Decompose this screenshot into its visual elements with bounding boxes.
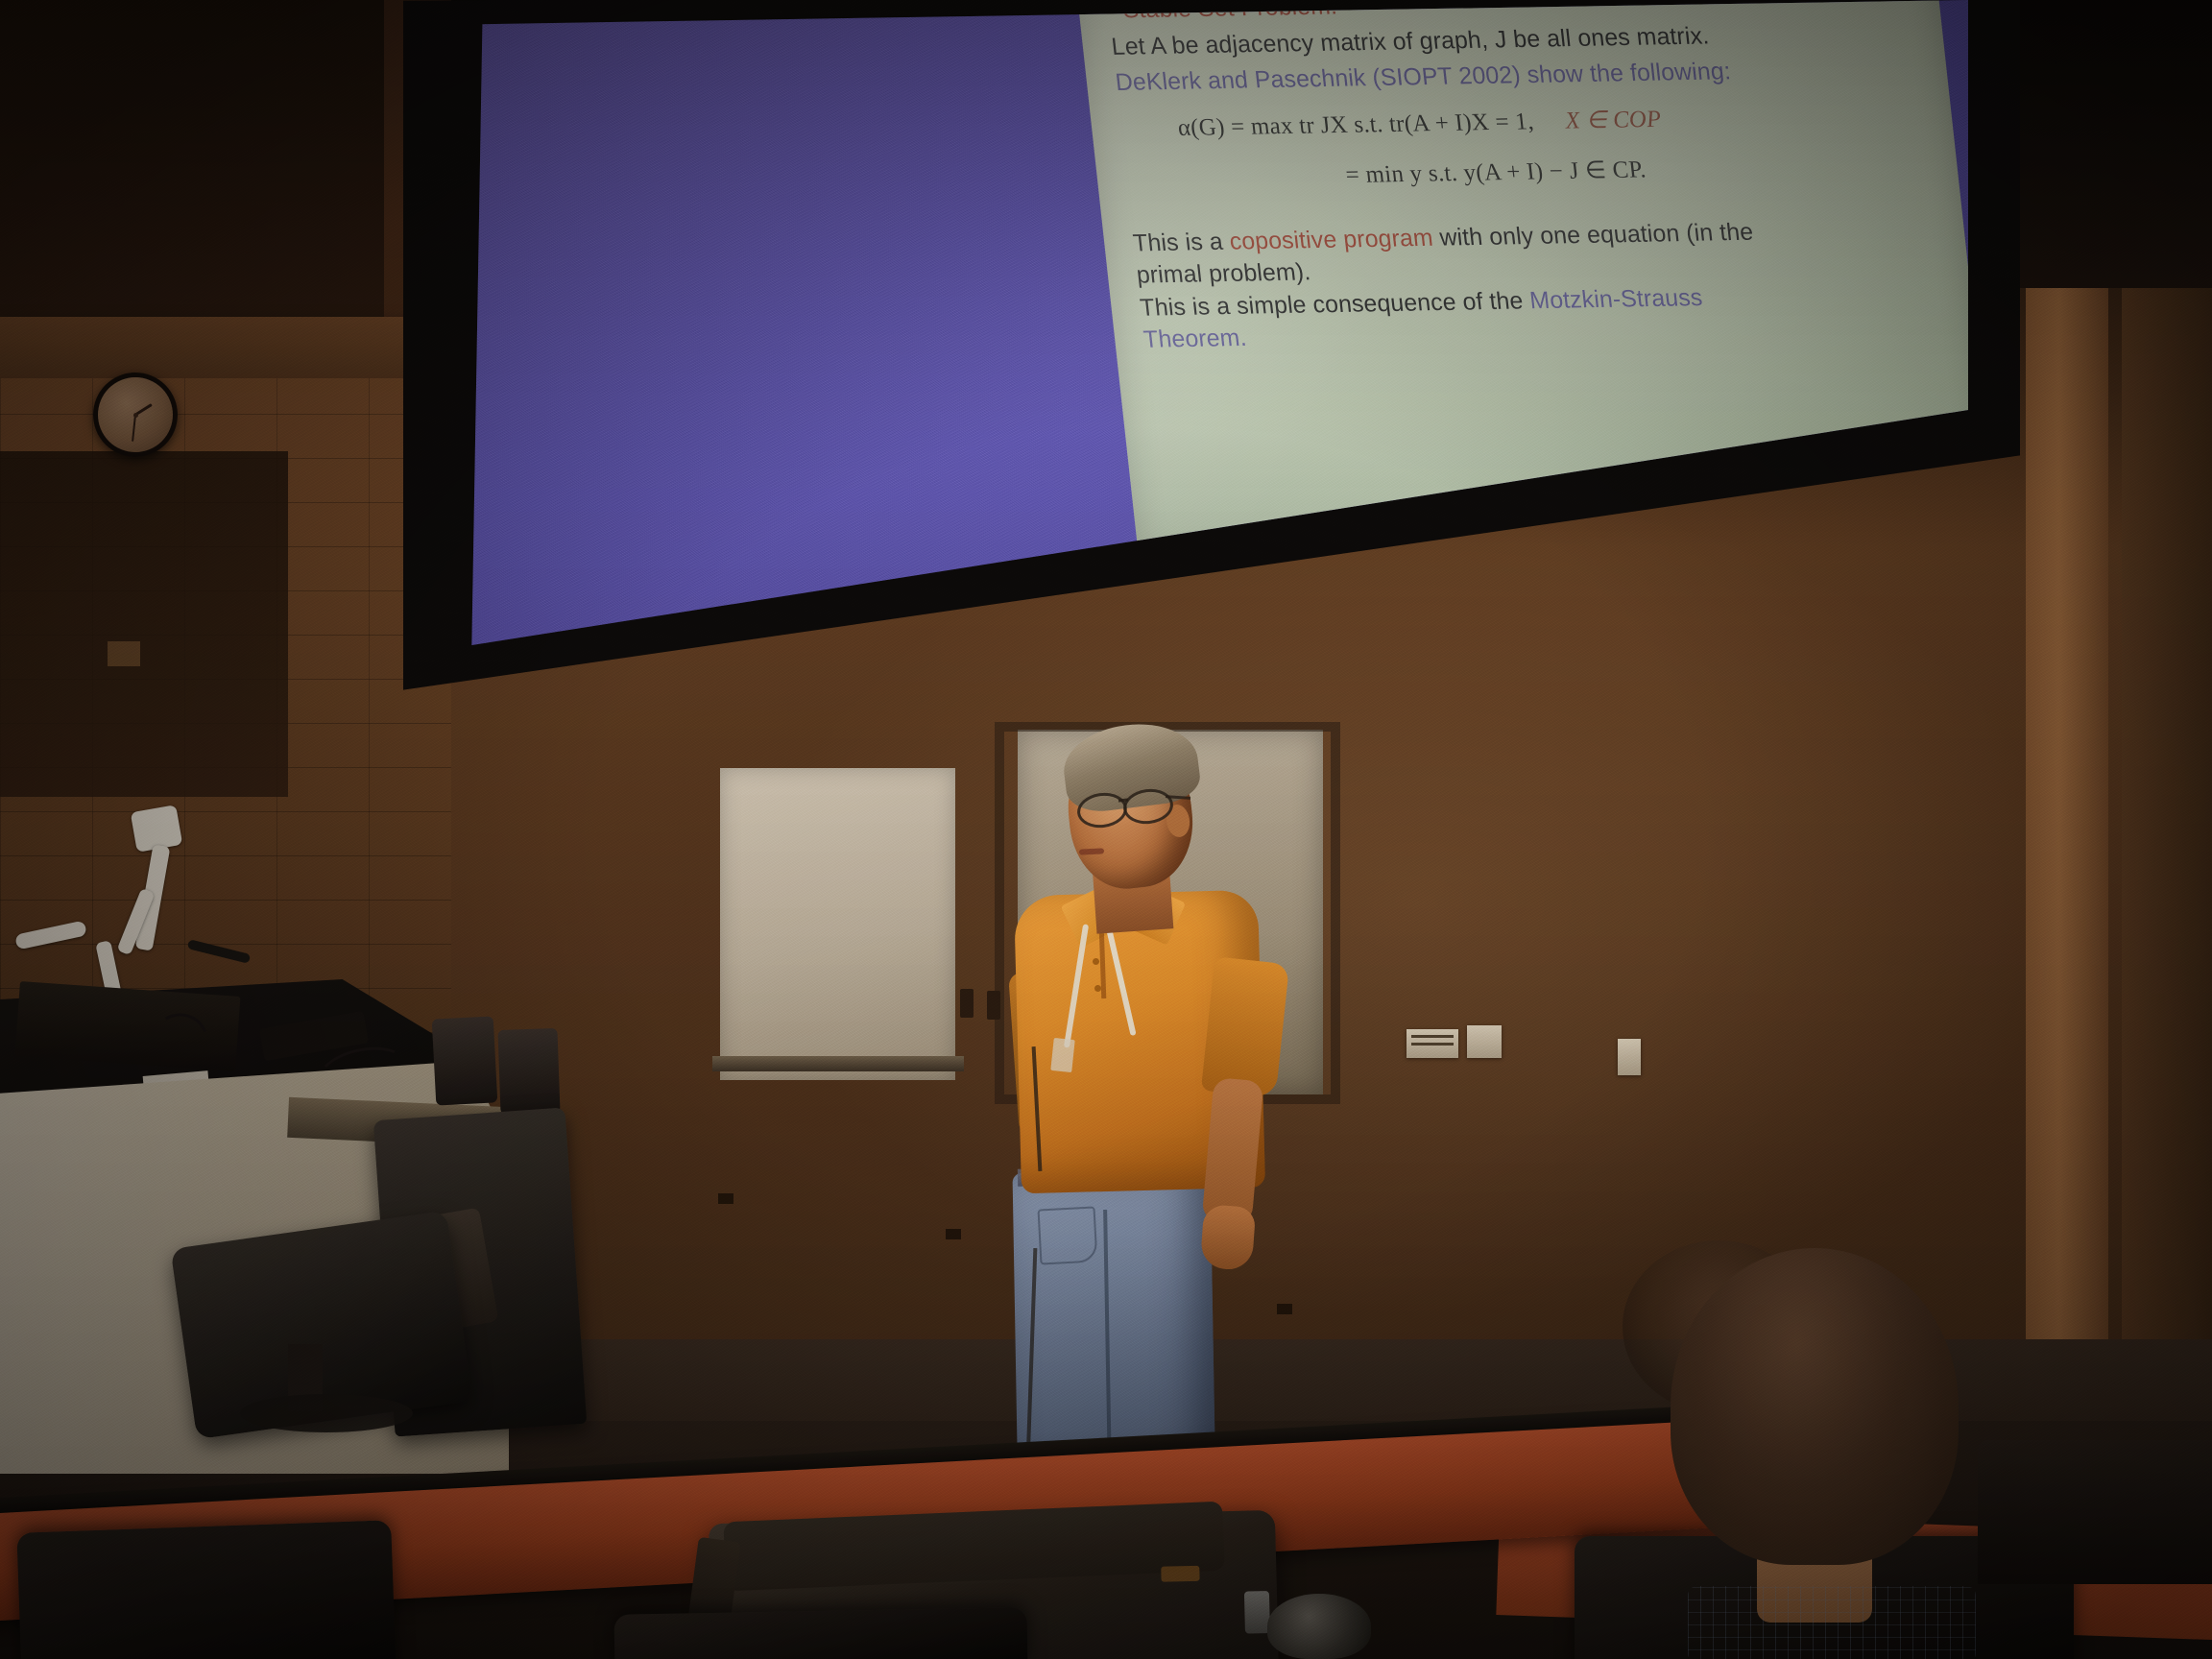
slide-para1-highlight: copositive program (1228, 225, 1434, 255)
speaker-badge (1050, 1038, 1074, 1072)
whiteboard (720, 768, 955, 1080)
camera-bag-buckle (1244, 1591, 1270, 1634)
slide-para1-lead: This is a (1132, 228, 1232, 257)
lecture-hall-photo: optimization p • Stable Set Problem: Let… (0, 0, 2212, 1659)
wall-outlet-plate-a (1407, 1029, 1458, 1058)
wall-marker-2 (946, 1229, 961, 1239)
left-wall-sign (108, 641, 140, 666)
camera-bag-clip (1161, 1566, 1199, 1582)
clock-minute-hand (132, 415, 136, 442)
slide-equation-dual: = min y s.t. y(A + I) − J ∈ CP. (1344, 156, 1647, 188)
wall-clock-icon (93, 373, 178, 457)
speaker-jeans-pocket (1038, 1206, 1098, 1264)
slide-para3-lead: This is a simple consequence of the (1139, 287, 1531, 322)
speaker-shirt-button-2 (1094, 985, 1101, 992)
foreground-seat-left (16, 1520, 396, 1659)
audience-member-head (1671, 1248, 1959, 1565)
wall-marker-3 (1277, 1304, 1292, 1314)
camera-lens (1267, 1594, 1371, 1659)
stacked-chair-2 (497, 1028, 560, 1115)
left-wall-upper-block (0, 0, 384, 355)
clock-center-pin (133, 413, 138, 418)
left-wall-soffit (0, 317, 422, 378)
left-wall-dark-inset (0, 451, 288, 797)
slide-para3-theorem: Motzkin-Strauss (1528, 284, 1704, 314)
wall-outlet-plate-b (1467, 1025, 1502, 1058)
foreground-seat-center (614, 1607, 1028, 1659)
whiteboard-tray (712, 1056, 964, 1071)
wall-pilaster-right (2026, 288, 2108, 1469)
wall-marker-1 (718, 1193, 733, 1204)
slide-para1-tail: with only one equation (in the (1431, 219, 1755, 252)
stacked-chair-1 (432, 1016, 498, 1105)
wall-slot-left (960, 989, 974, 1018)
slide-equation-primal-tail: X ∈ COP (1564, 107, 1663, 134)
wall-pilaster-far-right (2122, 288, 2212, 1469)
speaker-right-sleeve (1201, 956, 1289, 1097)
wall-outlet-plate-c (1618, 1039, 1641, 1075)
lecture-chair-base (240, 1394, 413, 1432)
foreground-dark-shape (1978, 1440, 2212, 1584)
wall-slot-right (987, 991, 1000, 1020)
speaker-shirt-button-1 (1093, 958, 1099, 965)
audience-member-collar (1688, 1586, 1976, 1659)
slide-equation-primal: α(G) = max tr JX s.t. tr(A + I)X = 1, (1176, 108, 1535, 141)
